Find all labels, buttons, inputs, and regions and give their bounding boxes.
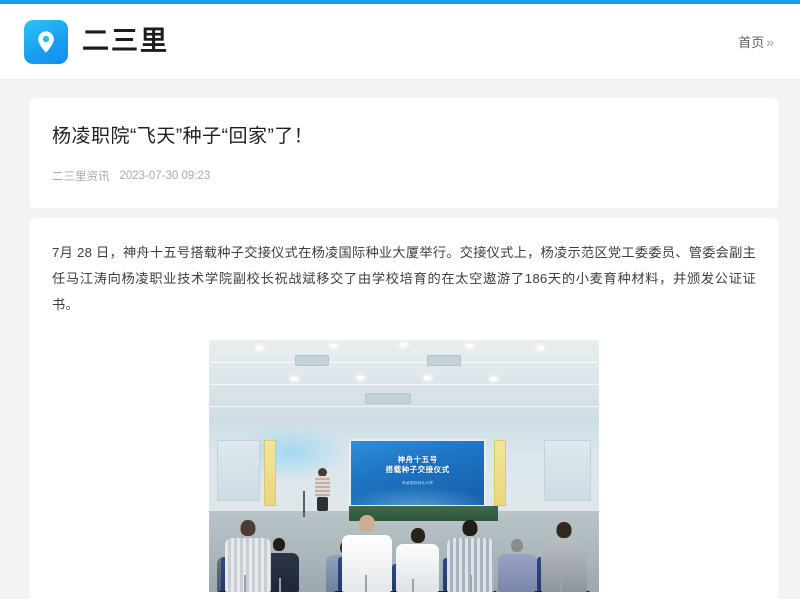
article-paragraph: 7月 28 日，神舟十五号搭载种子交接仪式在杨凌国际种业大厦举行。交接仪式上，杨… [52, 240, 756, 318]
home-link-label: 首页 [738, 32, 764, 51]
home-link[interactable]: 首页 » [734, 26, 778, 57]
double-chevron-right-icon: » [766, 35, 774, 49]
photo-audience [209, 476, 599, 592]
article-figure: 神舟十五号 搭载种子交接仪式 杨凌国际种业大厦 [52, 340, 756, 592]
photo-audience-person [396, 528, 439, 592]
article-meta: 二三里资讯 2023-07-30 09:23 [52, 168, 750, 184]
article-body-card: 7月 28 日，神舟十五号搭载种子交接仪式在杨凌国际种业大厦举行。交接仪式上，杨… [30, 218, 778, 599]
photo-screen-headline-line1: 神舟十五号 [351, 455, 484, 465]
brand-logo[interactable]: 二三里 [24, 20, 169, 64]
photo-screen-headline-line2: 搭载种子交接仪式 [351, 465, 484, 475]
photo-audience-person [498, 539, 537, 591]
article-header-card: 杨凌职院“飞天”种子“回家”了！ 二三里资讯 2023-07-30 09:23 [30, 98, 778, 208]
site-header: 二三里 首页 » [0, 4, 800, 80]
article-source: 二三里资讯 [52, 168, 110, 184]
photo-audience-person [225, 520, 272, 592]
map-pin-icon [24, 20, 68, 64]
page-content: 杨凌职院“飞天”种子“回家”了！ 二三里资讯 2023-07-30 09:23 … [0, 80, 800, 599]
page-title: 杨凌职院“飞天”种子“回家”了！ [52, 124, 750, 151]
photo-ceiling [209, 340, 599, 426]
article-timestamp: 2023-07-30 09:23 [120, 170, 211, 182]
photo-screen-headline: 神舟十五号 搭载种子交接仪式 [351, 455, 484, 475]
brand-name: 二三里 [82, 28, 169, 55]
event-photo: 神舟十五号 搭载种子交接仪式 杨凌国际种业大厦 [209, 340, 599, 592]
photo-audience-person [541, 522, 588, 592]
